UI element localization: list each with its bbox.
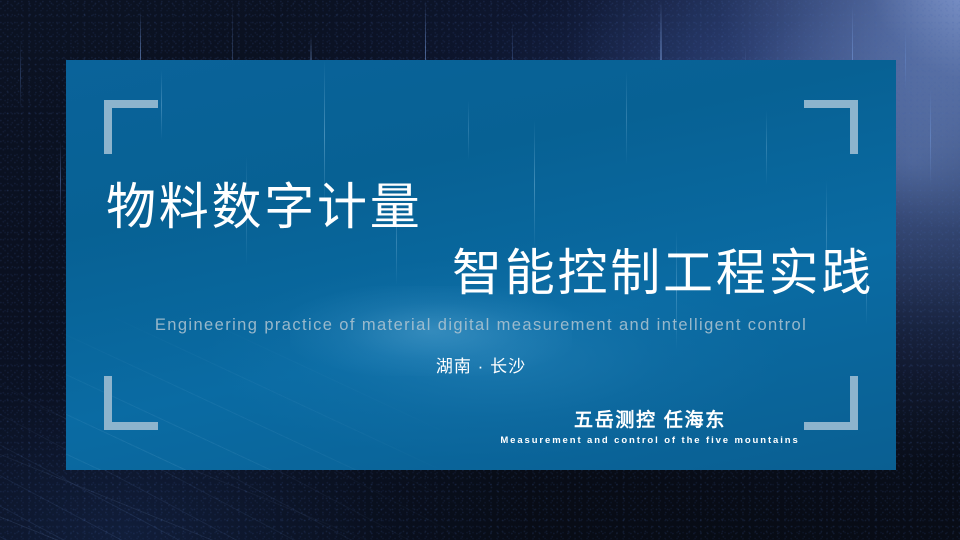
title-group: 物料数字计量 智能控制工程实践 Engineering practice of … bbox=[66, 180, 896, 335]
title-line-2: 智能控制工程实践 bbox=[66, 246, 896, 300]
presentation-title-slide: 物料数字计量 智能控制工程实践 Engineering practice of … bbox=[0, 0, 960, 540]
subtitle-english: Engineering practice of material digital… bbox=[66, 316, 896, 335]
title-line-1: 物料数字计量 bbox=[66, 180, 896, 234]
author-group: 五岳测控 任海东 Measurement and control of the … bbox=[500, 409, 800, 448]
author-name-chinese: 五岳测控 任海东 bbox=[500, 409, 800, 433]
author-company-english: Measurement and control of the five moun… bbox=[500, 434, 800, 448]
location-text: 湖南 · 长沙 bbox=[66, 352, 896, 377]
content-panel: 物料数字计量 智能控制工程实践 Engineering practice of … bbox=[66, 60, 896, 470]
